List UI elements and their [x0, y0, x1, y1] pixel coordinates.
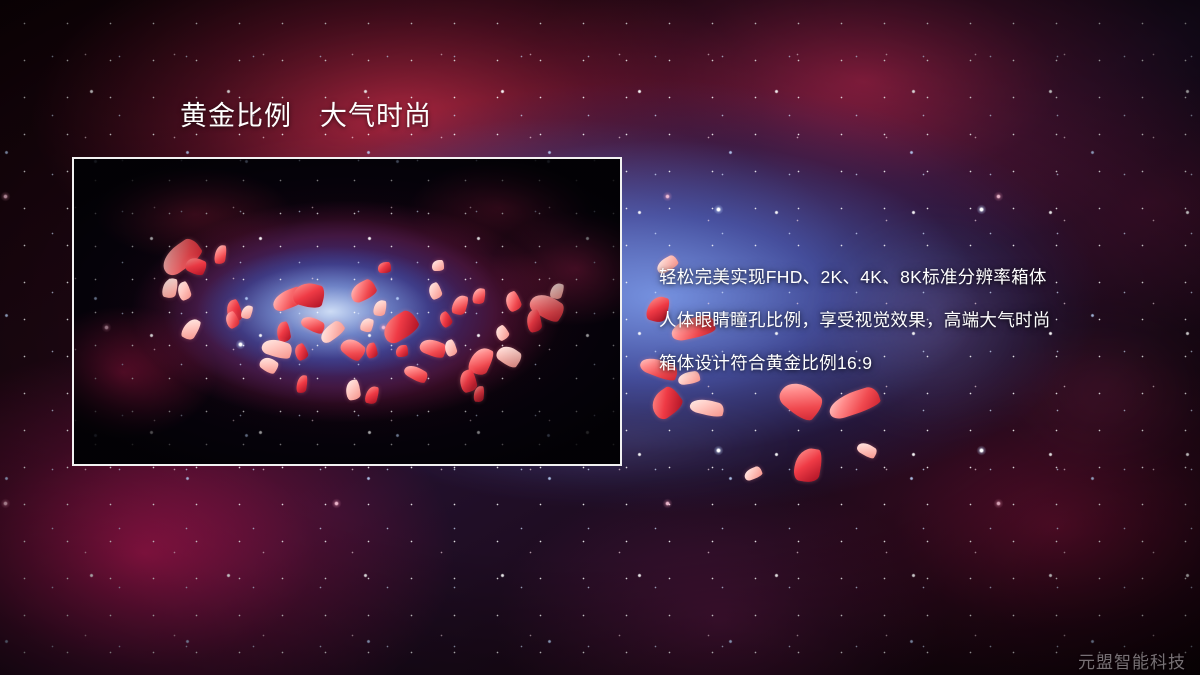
presentation-slide: 黄金比例 大气时尚 轻松完美实现FHD、2K、4K、8K标准分辨率箱体 人体眼睛…	[0, 0, 1200, 675]
video-preview-panel[interactable]	[72, 157, 622, 466]
video-preview-content	[74, 159, 620, 464]
slide-headline: 黄金比例 大气时尚	[180, 100, 432, 134]
watermark-label: 元盟智能科技	[1078, 648, 1186, 673]
body-copy-block: 轻松完美实现FHD、2K、4K、8K标准分辨率箱体 人体眼睛瞳孔比例，享受视觉效…	[659, 256, 1159, 385]
body-line: 箱体设计符合黄金比例16:9	[659, 342, 1159, 385]
panel-vignette	[74, 159, 620, 464]
body-line: 轻松完美实现FHD、2K、4K、8K标准分辨率箱体	[659, 256, 1159, 299]
body-line: 人体眼睛瞳孔比例，享受视觉效果，高端大气时尚	[659, 299, 1159, 342]
